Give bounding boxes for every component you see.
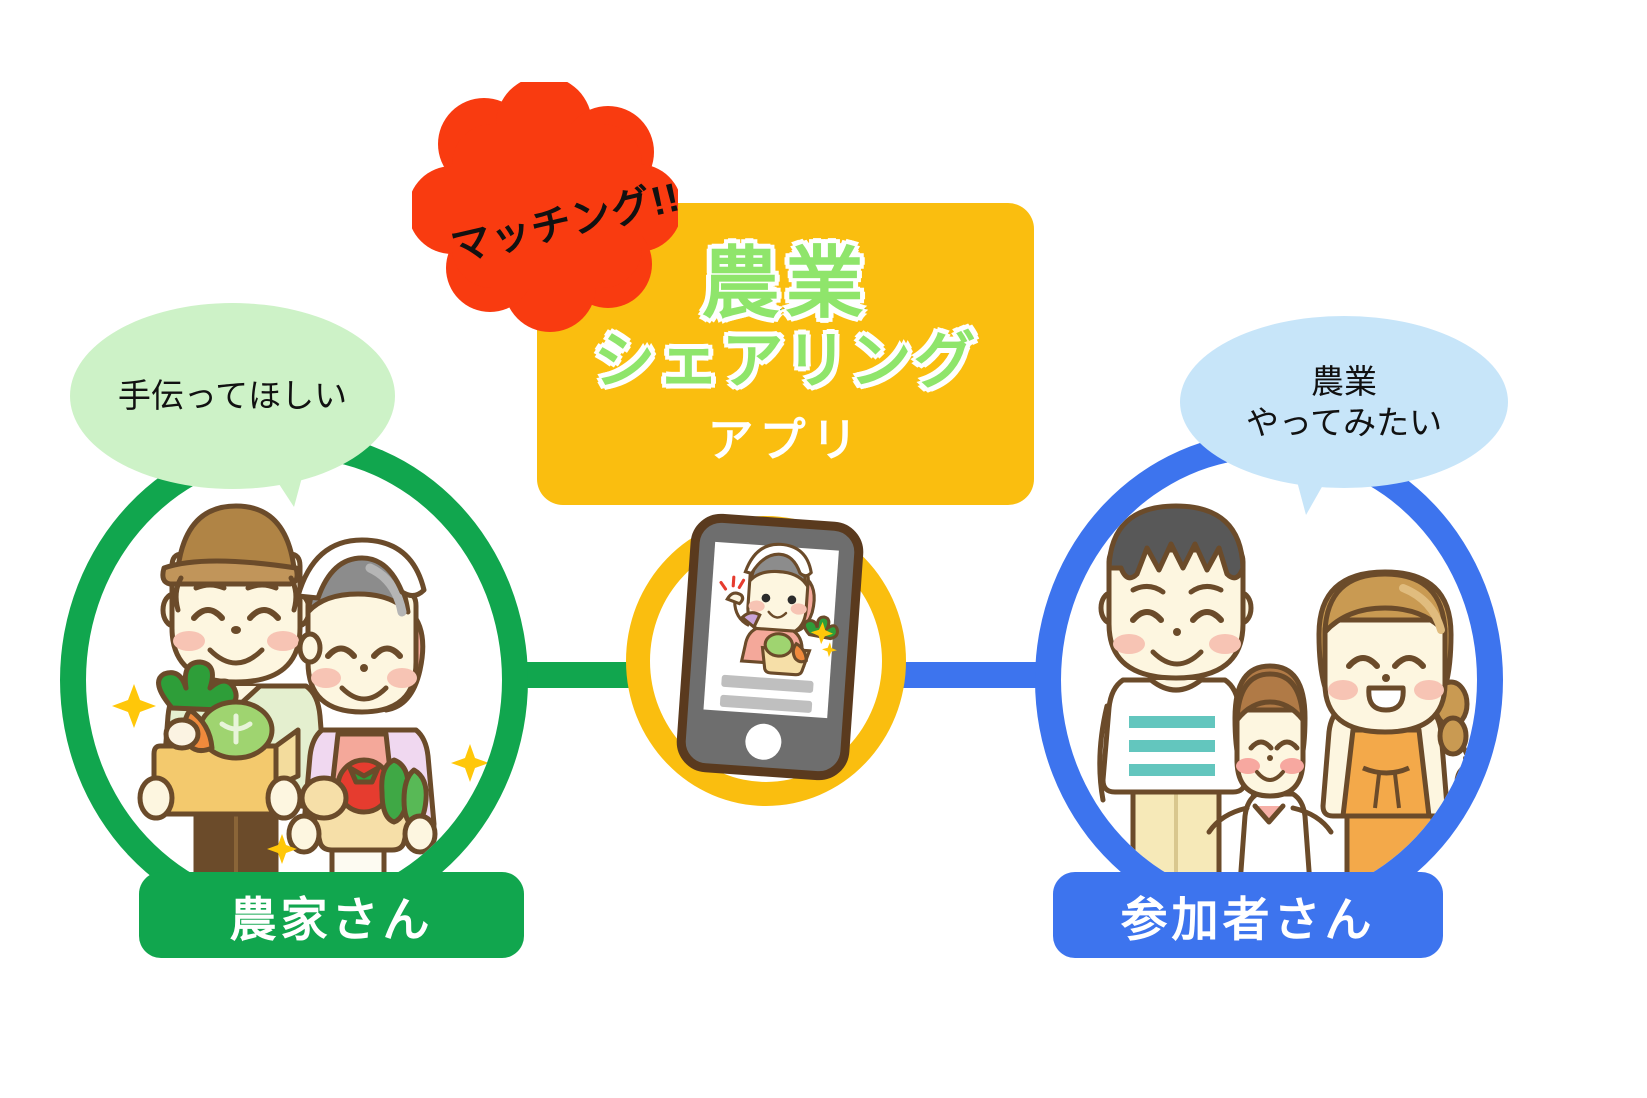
matching-badge: マッチング!! — [412, 82, 678, 340]
farmer-label-pill: 農家さん — [139, 872, 524, 958]
infographic-canvas: .ol { stroke:#6B4B2A; stroke-width:5; st… — [0, 0, 1647, 1098]
app-title-line1: 農業 — [701, 244, 869, 324]
farmer-label-text: 農家さん — [230, 881, 434, 950]
participants-ring — [1035, 432, 1503, 928]
farmer-speech-bubble: 手伝ってほしい — [70, 303, 395, 489]
participant-label-pill: 参加者さん — [1053, 872, 1443, 958]
participant-speech-line2: やってみたい — [1246, 402, 1442, 443]
app-title-line3: アプリ — [708, 404, 864, 470]
right-connector — [888, 662, 1048, 688]
smartphone-illustration — [669, 510, 871, 784]
participant-speech-line1: 農業 — [1246, 361, 1442, 402]
participant-speech-tail — [1290, 455, 1340, 515]
participant-speech-bubble: 農業 やってみたい — [1180, 316, 1508, 488]
farmer-speech-text: 手伝ってほしい — [118, 375, 347, 416]
farmer-speech-tail — [260, 455, 308, 507]
participant-label-text: 参加者さん — [1121, 881, 1376, 950]
